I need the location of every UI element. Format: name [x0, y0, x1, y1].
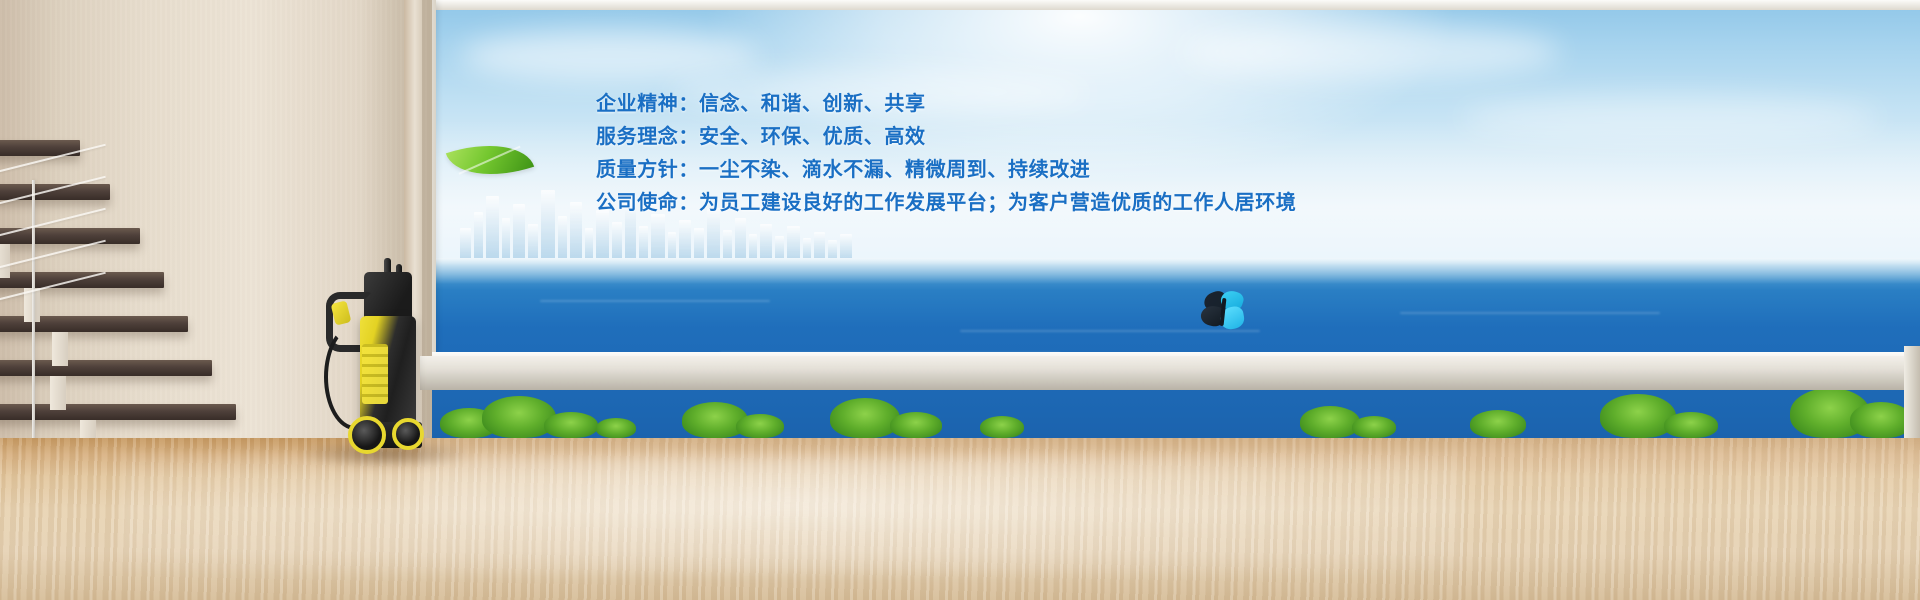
floating-staircase [0, 140, 220, 480]
washer-wheel [348, 416, 386, 454]
philosophy-line-4: 公司使命：为员工建设良好的工作发展平台；为客户营造优质的工作人居环境 [596, 187, 1356, 220]
sea-shimmer [420, 258, 1920, 284]
treetops [420, 386, 1920, 438]
philosophy-line-2: 服务理念：安全、环保、优质、高效 [596, 121, 1356, 154]
pressure-washer [306, 258, 438, 458]
sea-streak [1400, 312, 1660, 314]
cloud [1460, 96, 1880, 142]
butterfly [1200, 290, 1246, 336]
window-frame-top [420, 0, 1920, 10]
cloud [460, 30, 760, 82]
sea-streak [540, 300, 770, 302]
cloud [1180, 24, 1560, 80]
washer-wheel [392, 418, 424, 450]
philosophy-line-1: 企业精神：信念、和谐、创新、共享 [596, 88, 1356, 121]
philosophy-line-3: 质量方针：一尘不染、滴水不漏、精微周到、持续改进 [596, 154, 1356, 187]
washer-body-stripe [362, 344, 388, 404]
banner-stage: 企业精神：信念、和谐、创新、共享 服务理念：安全、环保、优质、高效 质量方针：一… [0, 0, 1920, 600]
wood-floor [0, 438, 1920, 600]
floor-sheen [120, 456, 1460, 574]
baseboard [420, 356, 1920, 390]
philosophy-text-block: 企业精神：信念、和谐、创新、共享 服务理念：安全、环保、优质、高效 质量方针：一… [596, 88, 1356, 220]
